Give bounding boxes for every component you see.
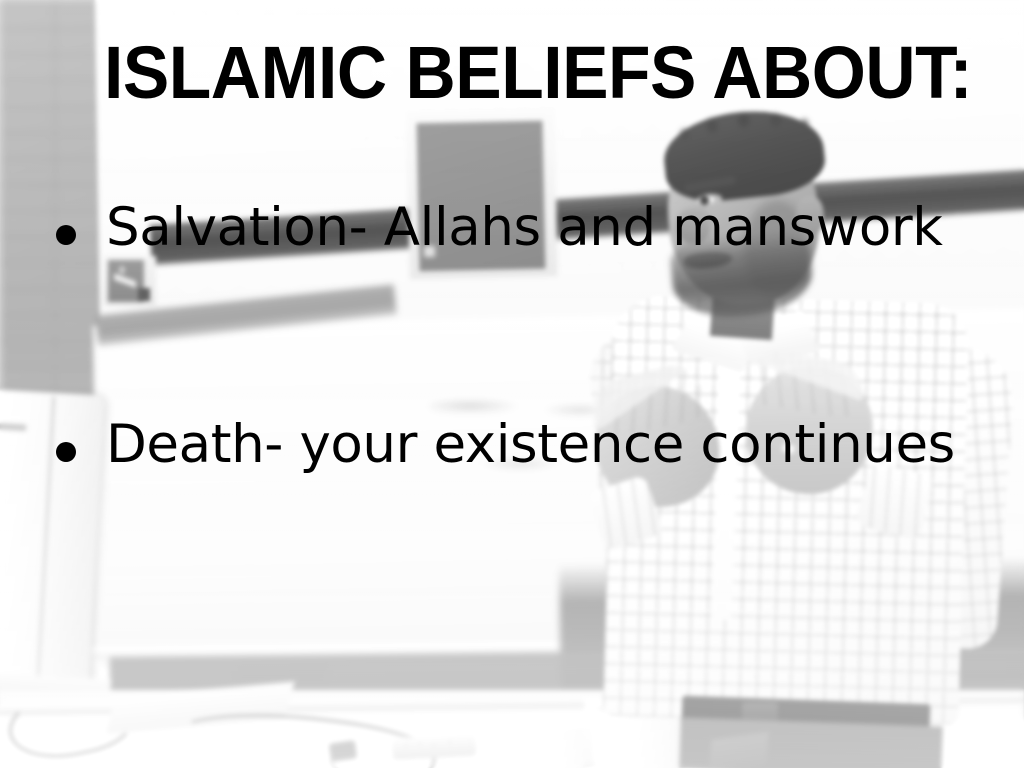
bullet-item-2: Death- your existence continues [56, 415, 1024, 474]
bullet-item-1: Salvation- Allahs and manswork [56, 198, 1024, 257]
bullet-text-2: Death- your existence continues [106, 415, 955, 474]
presentation-slide: ISLAMIC BELIEFS ABOUT: Salvation- Allahs… [0, 0, 1024, 768]
slide-title: ISLAMIC BELIEFS ABOUT: [104, 36, 912, 110]
bullet-dot-icon [56, 442, 76, 462]
slide-text-layer: ISLAMIC BELIEFS ABOUT: Salvation- Allahs… [0, 0, 1024, 768]
bullet-dot-icon [56, 225, 76, 245]
bullet-text-1: Salvation- Allahs and manswork [106, 198, 943, 257]
